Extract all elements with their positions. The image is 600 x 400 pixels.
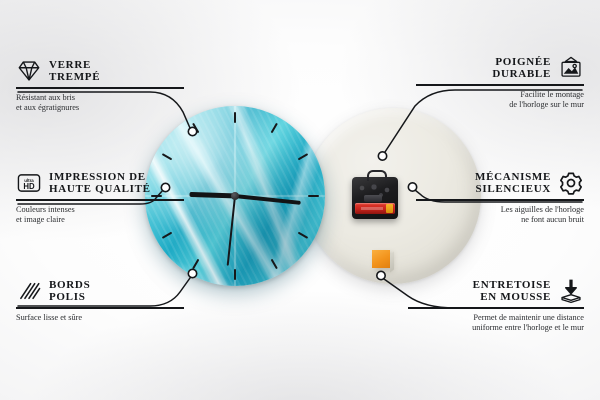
picture-frame-hanger-icon: [558, 55, 584, 81]
callout-desc-line1: Surface lisse et sûre: [16, 313, 184, 323]
hands-center-cap: [231, 192, 239, 200]
callout-mecanisme-silencieux: MÉCANISME SILENCIEUX Les aiguilles de l'…: [416, 170, 584, 225]
callout-title: POIGNÉE DURABLE: [492, 56, 551, 81]
callout-desc-line1: Couleurs intenses: [16, 205, 184, 215]
callout-header-row: ENTRETOISE EN MOUSSE: [408, 278, 584, 304]
polished-edge-icon: [16, 278, 42, 304]
clock-mechanism: [352, 177, 398, 219]
hour-tick: [234, 106, 236, 196]
callout-desc-line2: de l'horloge sur le mur: [416, 100, 584, 110]
foam-spacer: [372, 250, 390, 268]
callout-title: ENTRETOISE EN MOUSSE: [473, 279, 551, 304]
mechanism-shaft: [364, 195, 382, 202]
callout-divider: [416, 199, 584, 201]
callout-verre-trempe: VERRE TREMPÉ Résistant aux bris et aux é…: [16, 58, 184, 113]
foam-spacer-shadow-side: [390, 251, 394, 272]
callout-desc-line2: ne font aucun bruit: [416, 215, 584, 225]
callout-divider: [408, 307, 584, 309]
callout-desc-line2: et aux égratignures: [16, 103, 184, 113]
callout-entretoise-en-mousse: ENTRETOISE EN MOUSSE Permet de maintenir…: [408, 278, 584, 333]
callout-divider: [416, 84, 584, 86]
callout-desc-line2: et image claire: [16, 215, 184, 225]
callout-divider: [16, 199, 184, 201]
foam-spacer-arrow-icon: [558, 278, 584, 304]
battery-positive-terminal: [386, 204, 393, 213]
callout-divider: [16, 87, 184, 89]
gear-icon: [558, 170, 584, 196]
diamond-icon: [16, 58, 42, 84]
callout-desc-line1: Les aiguilles de l'horloge: [416, 205, 584, 215]
callout-title: MÉCANISME SILENCIEUX: [475, 171, 551, 196]
callout-desc-line1: Facilite le montage: [416, 90, 584, 100]
battery: [355, 203, 395, 214]
mechanism-hanger-hook: [367, 170, 387, 181]
callout-header-row: BORDS POLIS: [16, 278, 184, 304]
callout-header-row: VERRE TREMPÉ: [16, 58, 184, 84]
callout-bords-polis: BORDS POLIS Surface lisse et sûre: [16, 278, 184, 323]
callout-impression-haute-qualite: ultra HD IMPRESSION DE HAUTE QUALITÉ Cou…: [16, 170, 184, 225]
callout-divider: [16, 307, 184, 309]
battery-label-band: [361, 207, 383, 210]
callout-title: IMPRESSION DE HAUTE QUALITÉ: [49, 171, 151, 196]
callout-header-row: POIGNÉE DURABLE: [416, 55, 584, 81]
ultra-hd-icon: ultra HD: [16, 170, 42, 196]
callout-desc-line1: Permet de maintenir une distance: [408, 313, 584, 323]
callout-header-row: MÉCANISME SILENCIEUX: [416, 170, 584, 196]
callout-poignee-durable: POIGNÉE DURABLE Facilite le montage de l…: [416, 55, 584, 110]
svg-text:HD: HD: [23, 182, 35, 191]
infographic-canvas: VERRE TREMPÉ Résistant aux bris et aux é…: [0, 0, 600, 400]
callout-title: VERRE TREMPÉ: [49, 59, 100, 84]
callout-title: BORDS POLIS: [49, 279, 90, 304]
callout-desc-line2: uniforme entre l'horloge et le mur: [408, 323, 584, 333]
callout-header-row: ultra HD IMPRESSION DE HAUTE QUALITÉ: [16, 170, 184, 196]
callout-desc-line1: Résistant aux bris: [16, 93, 184, 103]
